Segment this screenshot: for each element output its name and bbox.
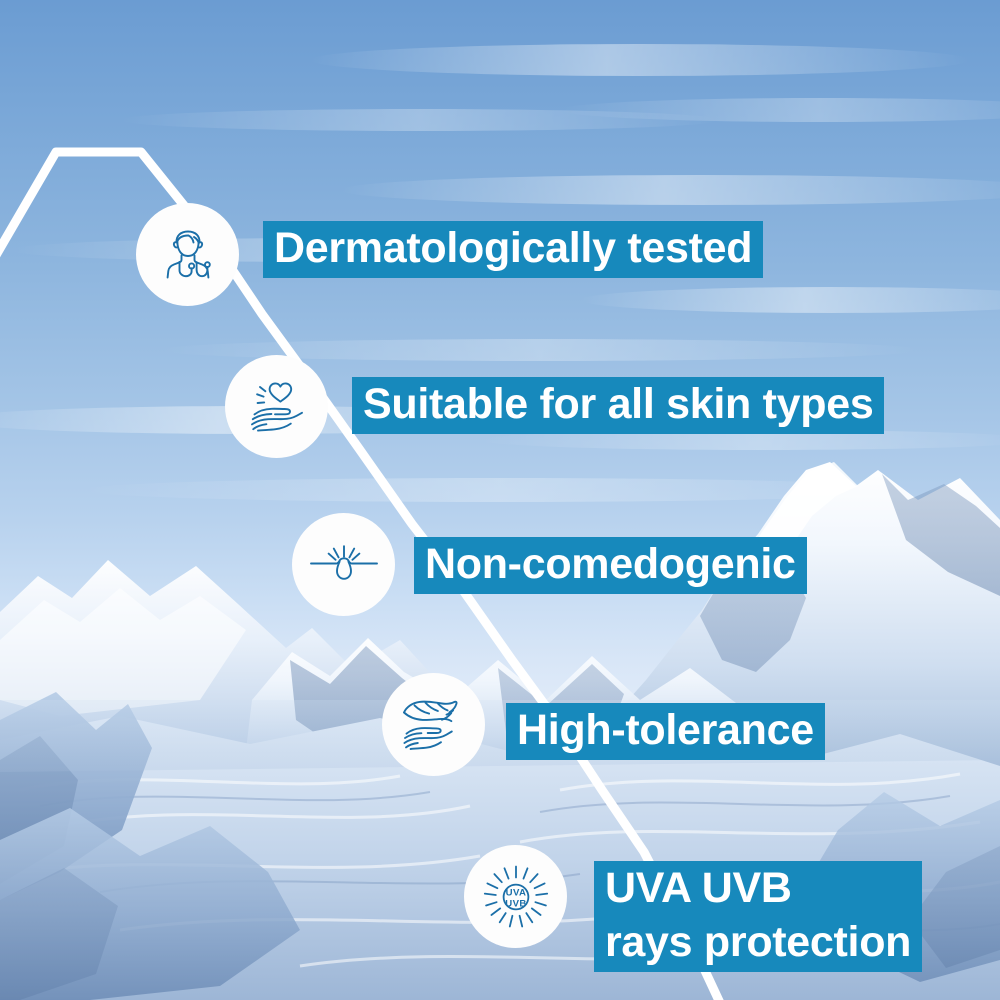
doctor-stethoscope-icon xyxy=(155,222,221,288)
benefit-label-line: UVA UVB xyxy=(594,861,922,915)
benefit-node-suitable-for-all-skin-types[interactable] xyxy=(225,355,328,458)
benefit-label-line: rays protection xyxy=(594,915,922,973)
benefit-label-line: Suitable for all skin types xyxy=(352,377,884,434)
uva-icon-label: UVA xyxy=(505,887,526,898)
benefit-label-line: Non-comedogenic xyxy=(414,537,807,594)
benefit-label-dermatologically-tested: Dermatologically tested xyxy=(263,221,763,278)
benefit-label-uva-uvb-rays-protection: UVA UVB rays protection xyxy=(594,861,922,972)
sun-uva-uvb-icon: UVA UVB xyxy=(478,859,554,935)
benefit-label-non-comedogenic: Non-comedogenic xyxy=(414,537,807,594)
hand-holding-heart-icon xyxy=(243,373,311,441)
benefit-node-dermatologically-tested[interactable] xyxy=(136,203,239,306)
skin-pore-follicle-icon xyxy=(307,528,381,602)
benefit-label-high-tolerance: High-tolerance xyxy=(506,703,825,760)
benefit-label-suitable-for-all-skin-types: Suitable for all skin types xyxy=(352,377,884,434)
benefit-node-high-tolerance[interactable] xyxy=(382,673,485,776)
benefit-node-non-comedogenic[interactable] xyxy=(292,513,395,616)
feather-on-hand-icon xyxy=(398,689,470,761)
benefit-label-line: High-tolerance xyxy=(506,703,825,760)
uvb-icon-label: UVB xyxy=(505,898,526,909)
infographic-poster: UVA UVB Dermatologically tested Suitable… xyxy=(0,0,1000,1000)
benefit-label-line: Dermatologically tested xyxy=(263,221,763,278)
benefit-node-uva-uvb-rays-protection[interactable]: UVA UVB xyxy=(464,845,567,948)
